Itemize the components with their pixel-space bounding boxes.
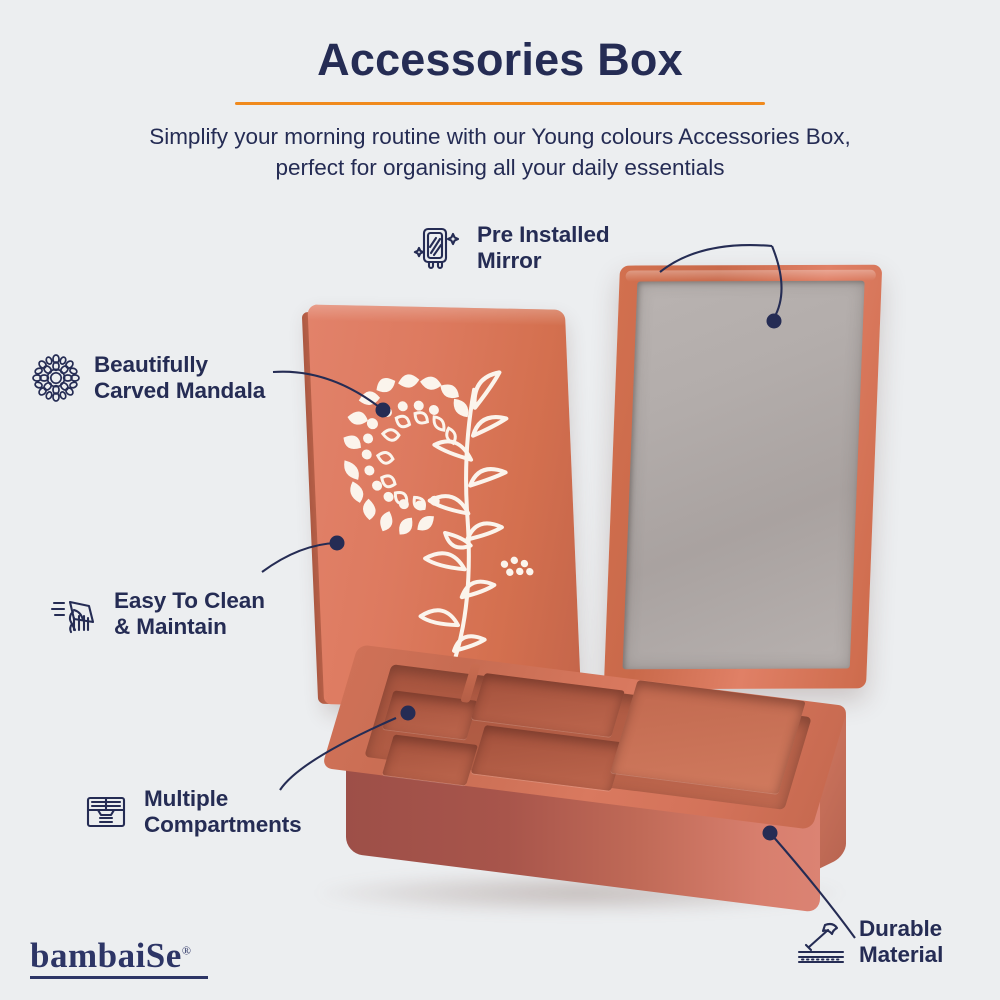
brand-name-wrap: bambaiSe® <box>30 938 191 973</box>
filing-tray-icon <box>80 786 132 838</box>
feature-multiple-compartments[interactable]: Multiple Compartments <box>80 786 302 838</box>
feature-carved-mandala[interactable]: Beautifully Carved Mandala <box>30 352 265 404</box>
brand-underline <box>30 976 208 979</box>
hammer-planks-icon <box>795 916 847 968</box>
mirror-glass <box>623 281 865 670</box>
compartment-base <box>318 645 838 910</box>
brand-logo[interactable]: bambaiSe® <box>30 938 208 979</box>
feature-pre-installed-mirror[interactable]: Pre Installed Mirror <box>413 222 610 274</box>
feature-label: Easy To Clean & Maintain <box>114 588 265 640</box>
infographic-canvas: Accessories Box Simplify your morning ro… <box>0 0 1000 1000</box>
registered-trademark-icon: ® <box>182 943 192 957</box>
mandala-flower-icon <box>30 352 82 404</box>
brand-name: bambaiSe <box>30 936 182 975</box>
product-photo <box>0 0 1000 1000</box>
feature-label: Pre Installed Mirror <box>477 222 610 274</box>
standing-mirror-sparkle-icon <box>413 222 465 274</box>
feature-durable-material[interactable]: Durable Material <box>795 916 943 968</box>
feature-label: Multiple Compartments <box>144 786 302 838</box>
feature-label: Durable Material <box>859 916 943 968</box>
feature-easy-to-clean[interactable]: Easy To Clean & Maintain <box>50 588 265 640</box>
hand-wiping-cloth-icon <box>50 588 102 640</box>
pre-installed-mirror-panel <box>604 265 883 690</box>
feature-label: Beautifully Carved Mandala <box>94 352 265 404</box>
